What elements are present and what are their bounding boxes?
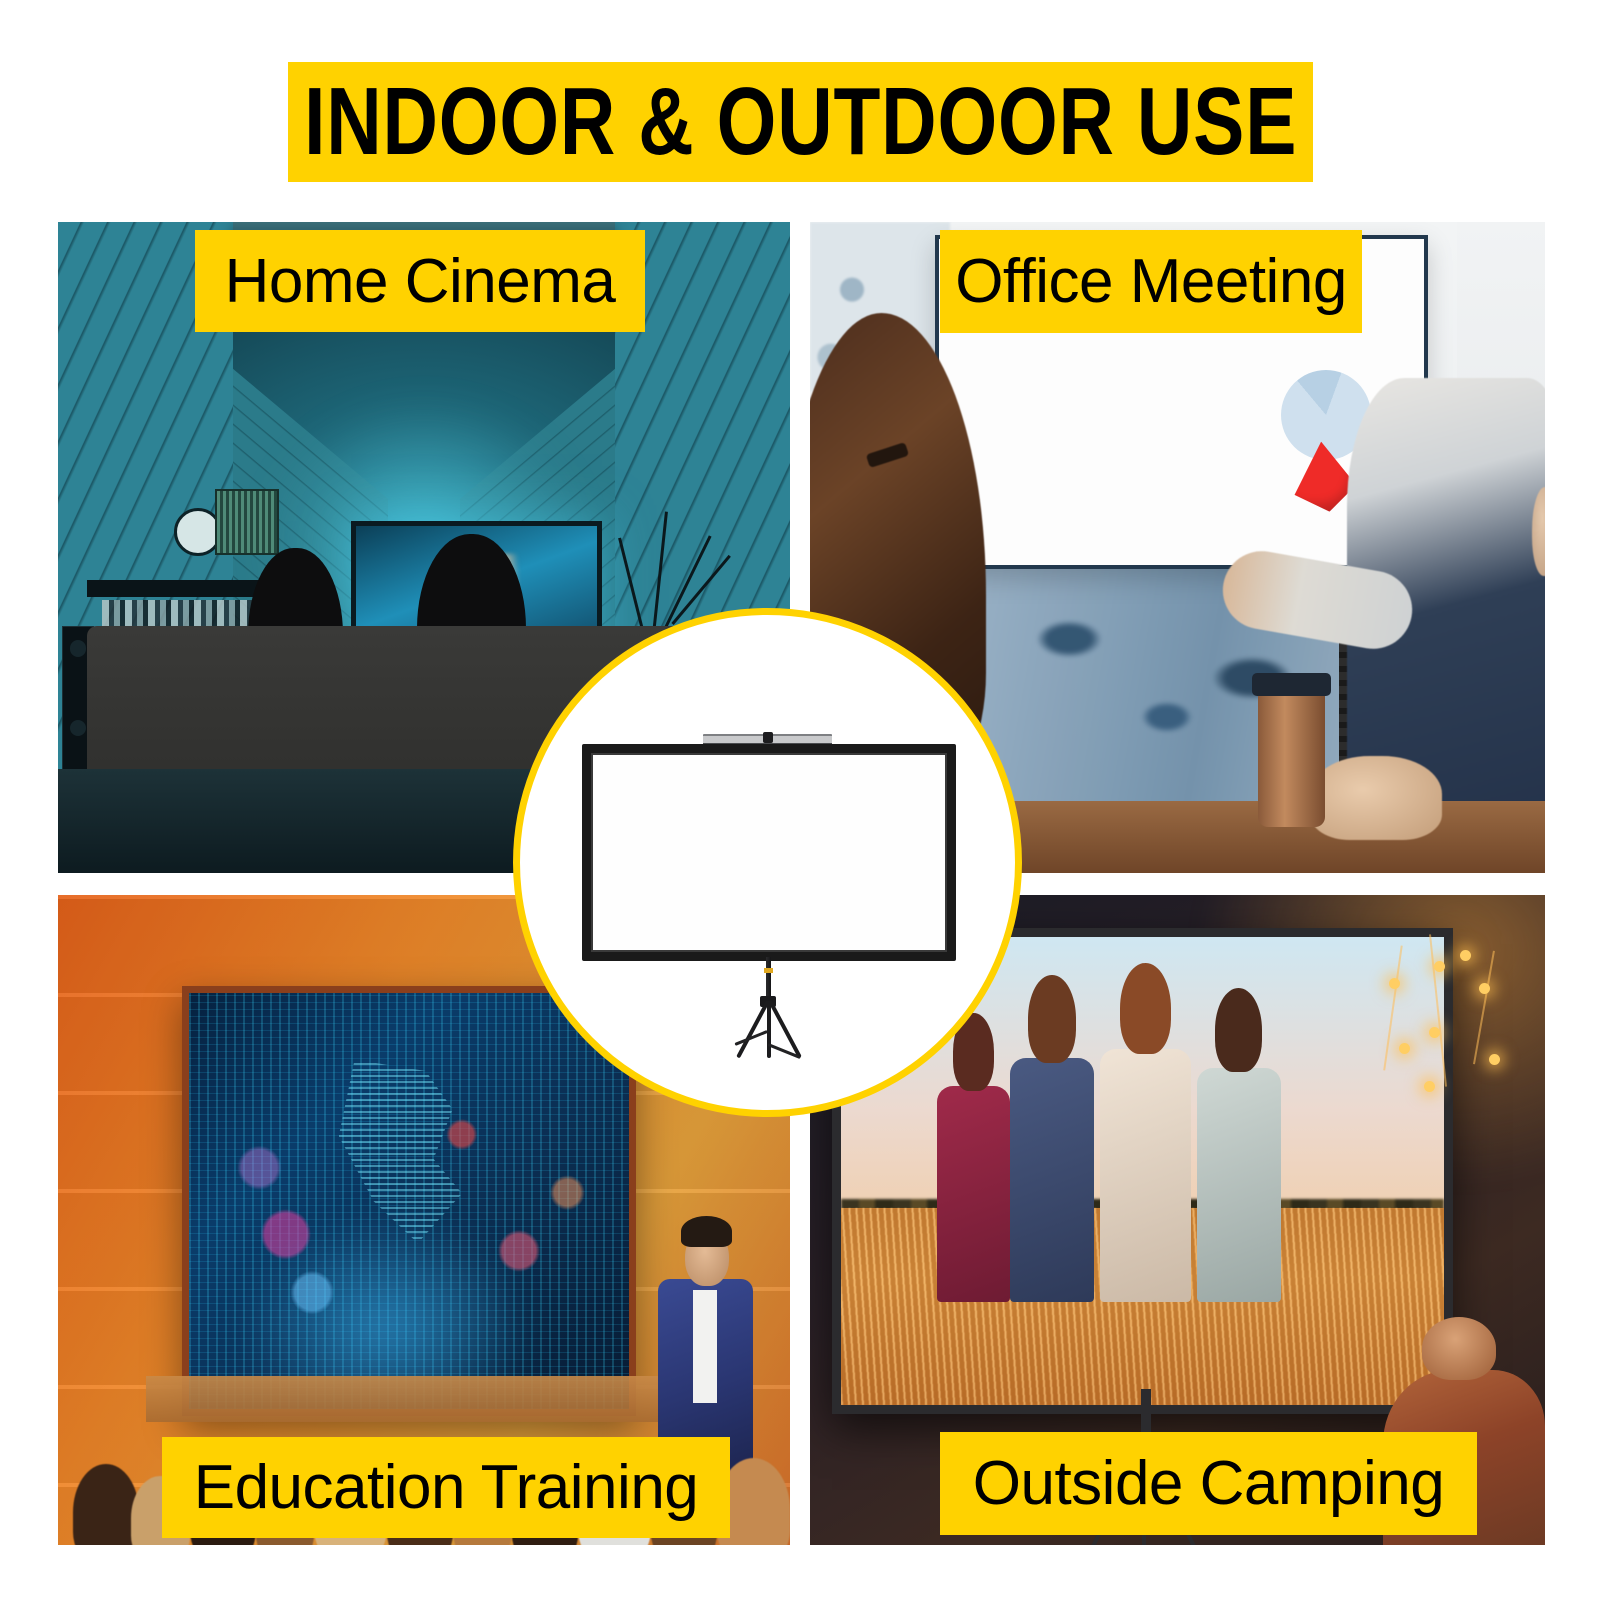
presenter-hair [681,1216,732,1247]
coffee-cup-lid [1252,673,1331,696]
basket [215,489,279,555]
presenter-shirt [693,1290,718,1403]
screen-frame [582,744,956,962]
audience-head [73,1464,139,1545]
product-hero-circle [513,608,1022,1117]
resting-hand [1310,756,1442,841]
caption-home-cinema-label: Home Cinema [225,246,616,317]
caption-office-meeting: Office Meeting [940,230,1362,333]
light-bulb [1429,1027,1440,1038]
page-title: INDOOR & OUTDOOR USE [304,74,1297,170]
caption-outside-camping-label: Outside Camping [973,1448,1445,1519]
projected-friend-head [1028,975,1075,1063]
light-wire [1473,951,1495,1064]
caption-home-cinema: Home Cinema [195,230,645,332]
caption-education-training: Education Training [162,1437,730,1538]
projected-friend-2 [1010,1058,1094,1301]
light-wire [1429,934,1447,1086]
projected-friend-4 [1197,1068,1281,1302]
light-bulb [1399,1043,1410,1054]
light-bulb [1434,961,1445,972]
light-bulb [1479,983,1490,994]
tripod-pole [766,957,771,999]
foreground-viewer-head [1422,1317,1496,1380]
string-lights [1376,934,1538,1207]
tripod-projector-screen [520,615,1015,1110]
light-bulb [1460,950,1471,961]
tripod-leg-center [767,1001,771,1058]
coffee-cup [1258,684,1324,827]
presenter-head [1532,487,1545,576]
hair-clip [866,442,910,468]
projected-friend-head [1215,988,1262,1072]
product-feature-page: INDOOR & OUTDOOR USE [0,0,1600,1600]
projected-friend-3 [1100,1049,1190,1302]
light-bulb [1389,978,1400,989]
screen-surface [591,753,947,953]
screen-top-knob [763,732,774,743]
light-bulb [1489,1054,1500,1065]
light-bulb [1424,1081,1435,1092]
caption-office-meeting-label: Office Meeting [955,246,1347,317]
projected-friend-1 [937,1086,1009,1301]
tripod-pole-band [764,968,774,973]
tripod-leg-left [736,1000,770,1059]
projected-friend-head [1120,963,1171,1054]
caption-outside-camping: Outside Camping [940,1432,1477,1535]
header-banner: INDOOR & OUTDOOR USE [288,62,1313,182]
caption-education-training-label: Education Training [194,1452,699,1523]
